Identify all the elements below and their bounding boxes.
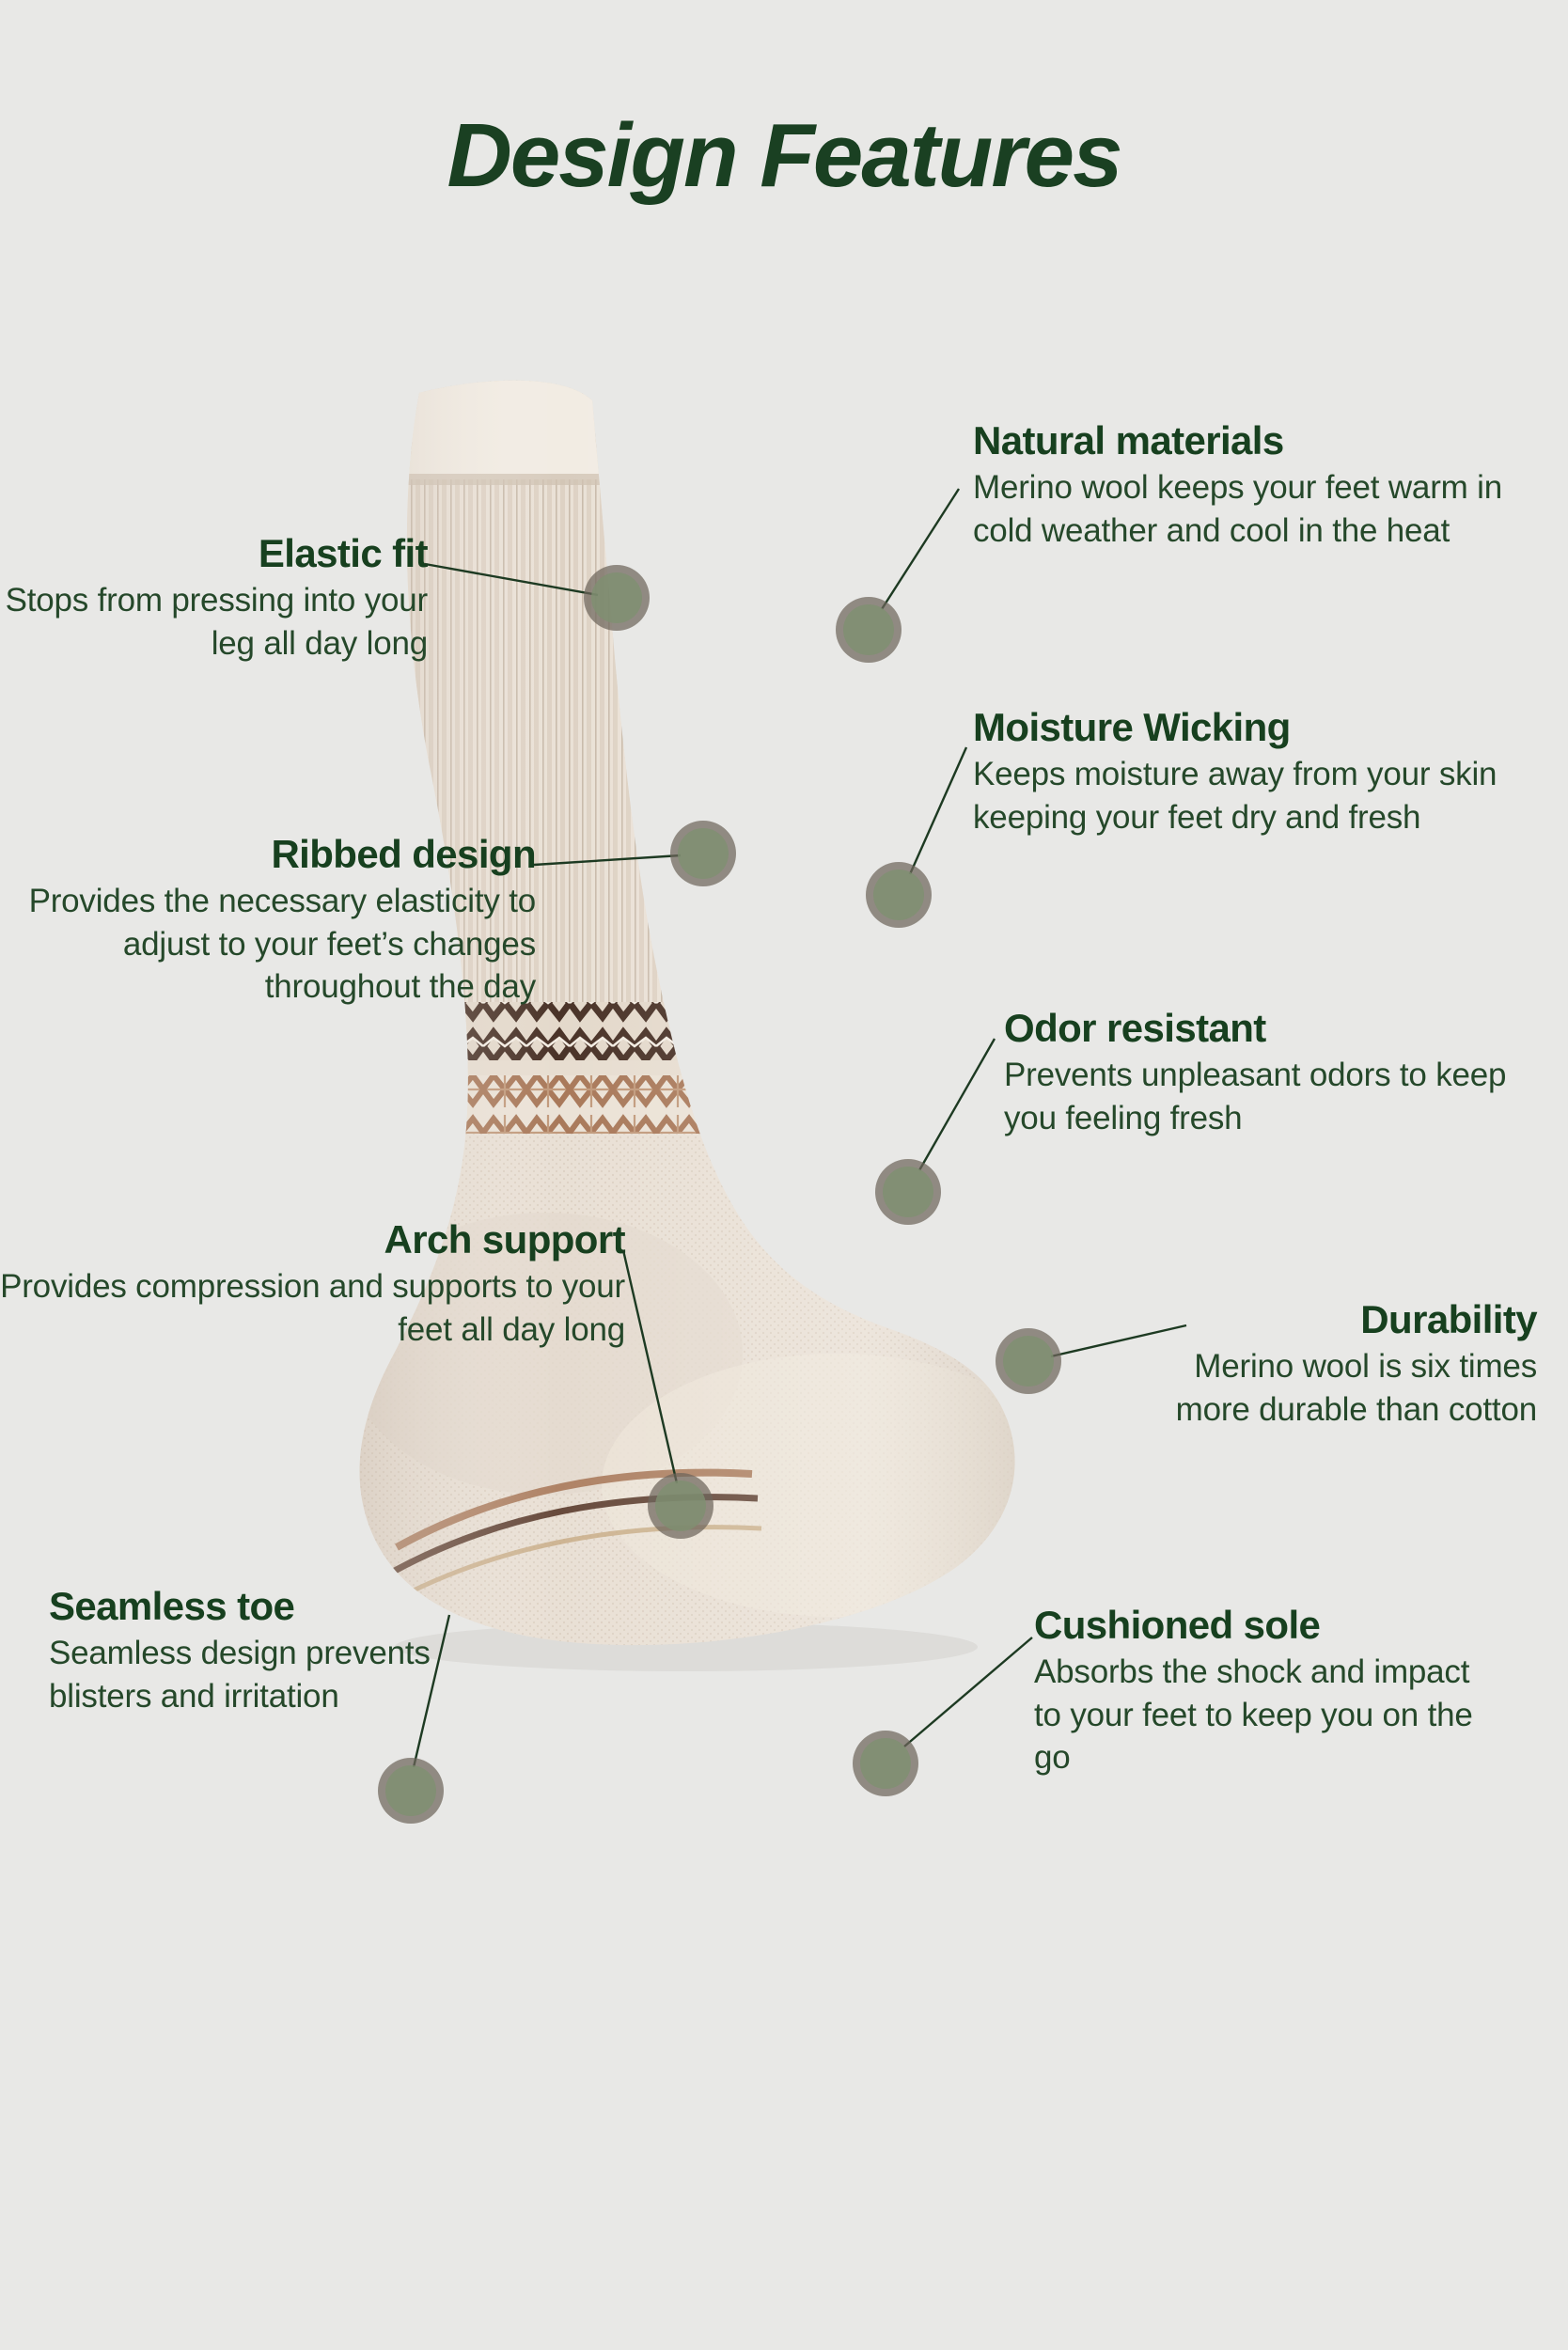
callout-moisture-wicking: Moisture Wicking Keeps moisture away fro… [973,705,1532,838]
callout-body: Merino wool keeps your feet warm in cold… [973,466,1528,552]
callout-title: Ribbed design [0,832,536,876]
callout-body: Absorbs the shock and impact to your fee… [1034,1651,1504,1779]
callout-title: Durability [1133,1297,1537,1341]
callout-body: Seamless design prevents blisters and ir… [49,1632,453,1717]
callout-natural-materials: Natural materials Merino wool keeps your… [973,418,1528,552]
callout-title: Moisture Wicking [973,705,1532,749]
callout-body: Prevents unpleasant odors to keep you fe… [1004,1054,1540,1139]
callout-elastic-fit: Elastic fit Stops from pressing into you… [0,531,428,665]
callout-body: Stops from pressing into your leg all da… [0,579,428,665]
callout-title: Arch support [0,1217,625,1261]
callout-title: Odor resistant [1004,1006,1540,1050]
callout-title: Cushioned sole [1034,1603,1504,1647]
callout-body: Keeps moisture away from your skin keepi… [973,753,1532,838]
callout-ribbed-design: Ribbed design Provides the necessary ela… [0,832,536,1009]
callout-body: Provides the necessary elasticity to adj… [0,880,536,1009]
callout-seamless-toe: Seamless toe Seamless design prevents bl… [49,1584,453,1717]
callout-cushioned-sole: Cushioned sole Absorbs the shock and imp… [1034,1603,1504,1779]
callout-body: Merino wool is six times more durable th… [1133,1345,1537,1431]
callout-title: Elastic fit [0,531,428,575]
callout-odor-resistant: Odor resistant Prevents unpleasant odors… [1004,1006,1540,1139]
callout-title: Seamless toe [49,1584,453,1628]
callout-durability: Durability Merino wool is six times more… [1133,1297,1537,1431]
page-title: Design Features [0,111,1568,201]
callout-body: Provides compression and supports to you… [0,1265,625,1351]
callout-arch-support: Arch support Provides compression and su… [0,1217,625,1351]
callout-title: Natural materials [973,418,1528,462]
